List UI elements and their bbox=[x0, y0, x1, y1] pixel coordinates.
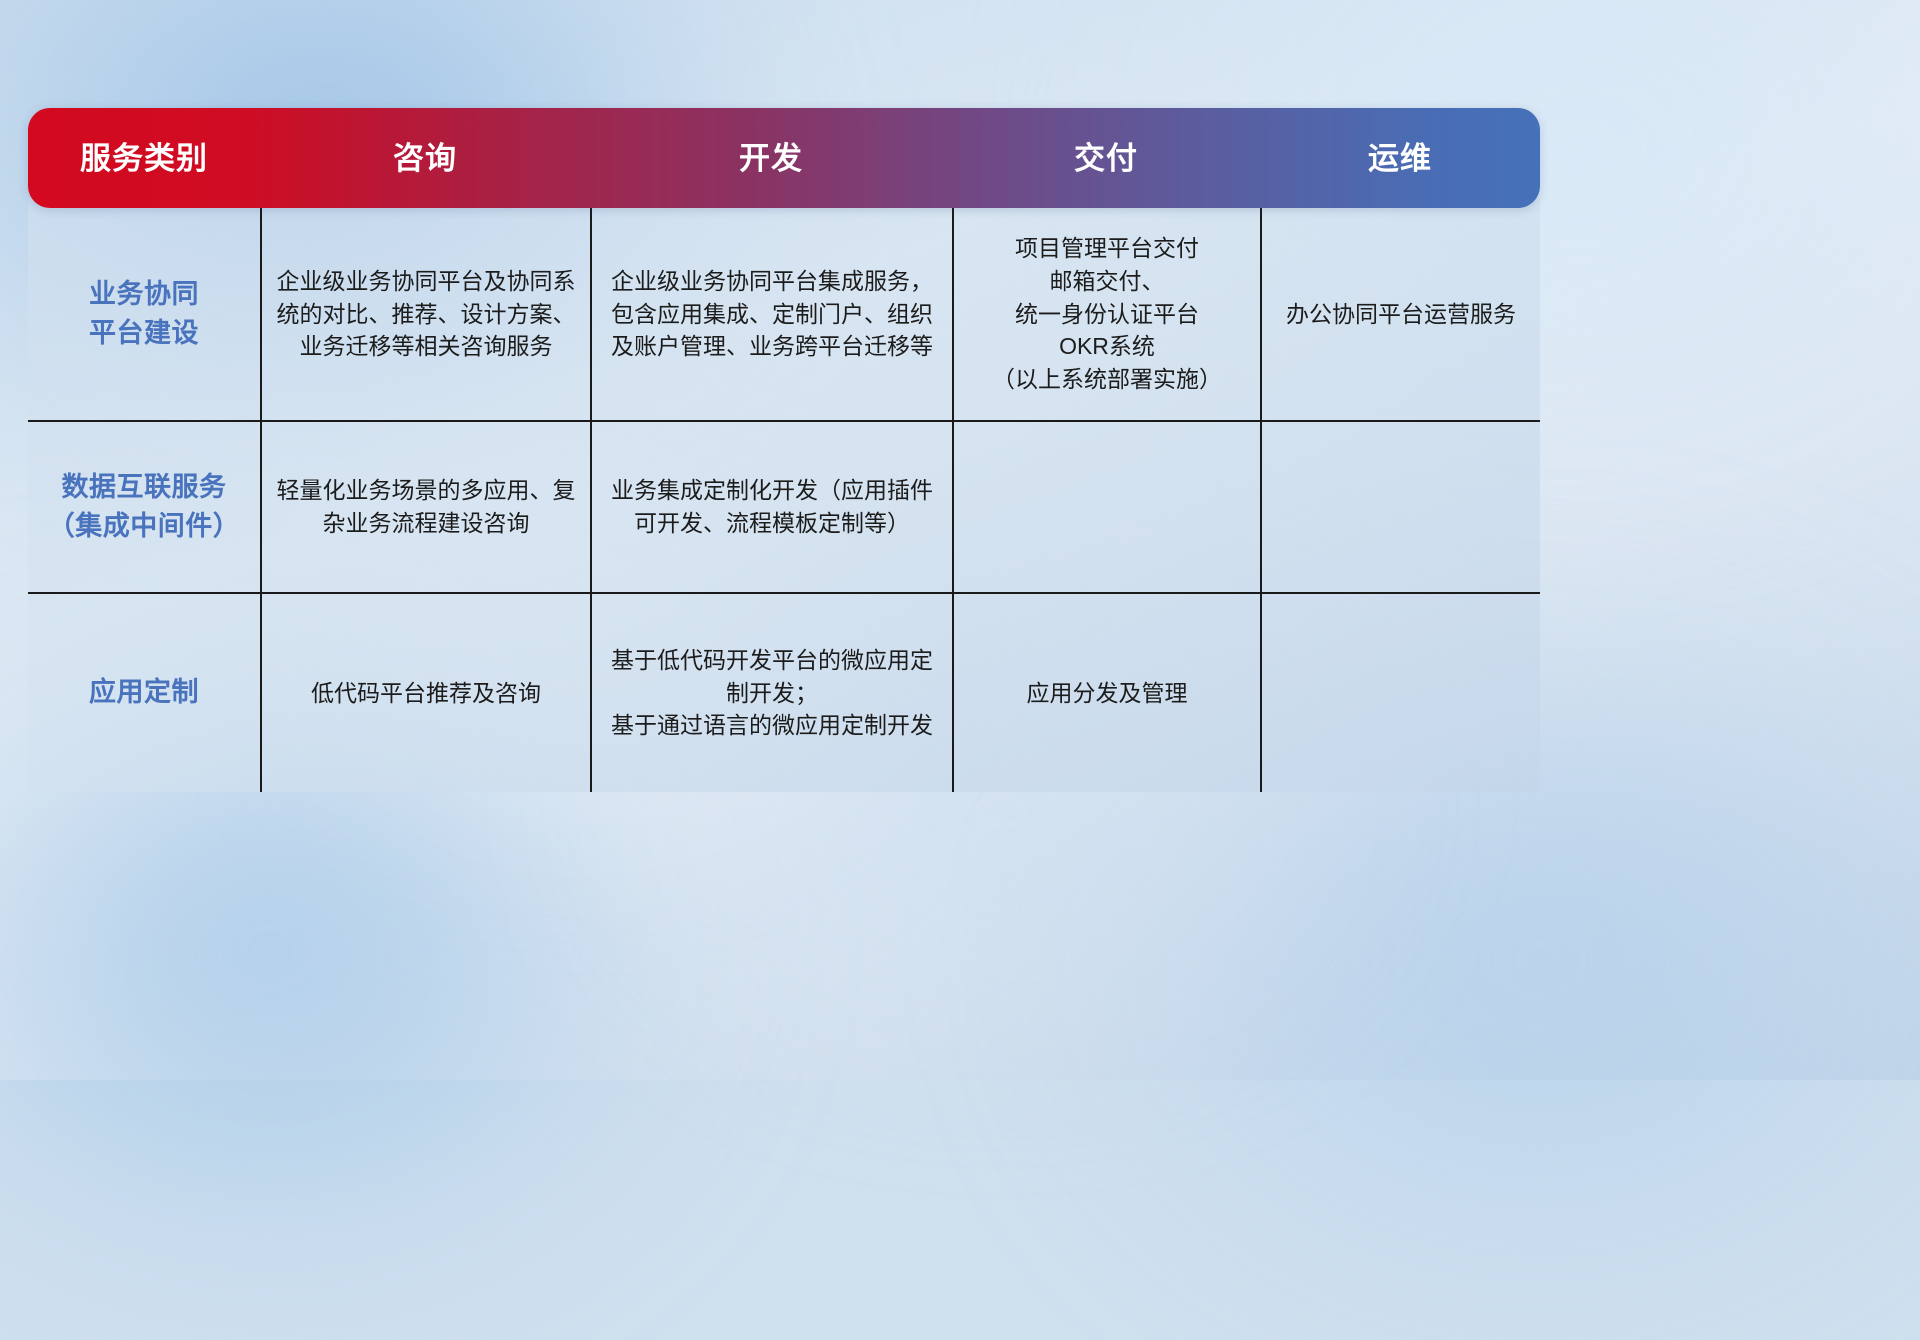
table-row: 数据互联服务 （集成中间件） 轻量化业务场景的多应用、复 杂业务流程建设咨询 业… bbox=[28, 420, 1540, 592]
row-category-label: 应用定制 bbox=[28, 594, 260, 792]
cell-operations bbox=[1260, 422, 1540, 592]
table-header-row: 服务类别 咨询 开发 交付 运维 bbox=[28, 108, 1540, 208]
table-row: 应用定制 低代码平台推荐及咨询 基于低代码开发平台的微应用定 制开发； 基于通过… bbox=[28, 592, 1540, 792]
row-category-label: 业务协同 平台建设 bbox=[28, 208, 260, 420]
cell-consulting: 低代码平台推荐及咨询 bbox=[260, 594, 590, 792]
table-body: 业务协同 平台建设 企业级业务协同平台及协同系 统的对比、推荐、设计方案、 业务… bbox=[28, 198, 1540, 792]
cell-consulting: 轻量化业务场景的多应用、复 杂业务流程建设咨询 bbox=[260, 422, 590, 592]
cell-delivery: 应用分发及管理 bbox=[952, 594, 1260, 792]
cell-development: 企业级业务协同平台集成服务， 包含应用集成、定制门户、组织 及账户管理、业务跨平… bbox=[590, 208, 952, 420]
cell-development: 业务集成定制化开发（应用插件 可开发、流程模板定制等） bbox=[590, 422, 952, 592]
cell-development: 基于低代码开发平台的微应用定 制开发； 基于通过语言的微应用定制开发 bbox=[590, 594, 952, 792]
column-header-operations: 运维 bbox=[1260, 143, 1540, 174]
cell-operations: 办公协同平台运营服务 bbox=[1260, 208, 1540, 420]
cell-operations bbox=[1260, 594, 1540, 792]
column-header-service-category: 服务类别 bbox=[28, 143, 260, 174]
cell-delivery: 项目管理平台交付 邮箱交付、 统一身份认证平台 OKR系统 （以上系统部署实施） bbox=[952, 208, 1260, 420]
cell-consulting: 企业级业务协同平台及协同系 统的对比、推荐、设计方案、 业务迁移等相关咨询服务 bbox=[260, 208, 590, 420]
column-header-development: 开发 bbox=[590, 143, 952, 174]
column-header-delivery: 交付 bbox=[952, 143, 1260, 174]
column-header-consulting: 咨询 bbox=[260, 143, 590, 174]
service-matrix-table: 服务类别 咨询 开发 交付 运维 业务协同 平台建设 企业级业务协同平台及协同系… bbox=[28, 108, 1540, 792]
row-category-label: 数据互联服务 （集成中间件） bbox=[28, 422, 260, 592]
table-row: 业务协同 平台建设 企业级业务协同平台及协同系 统的对比、推荐、设计方案、 业务… bbox=[28, 208, 1540, 420]
cell-delivery bbox=[952, 422, 1260, 592]
